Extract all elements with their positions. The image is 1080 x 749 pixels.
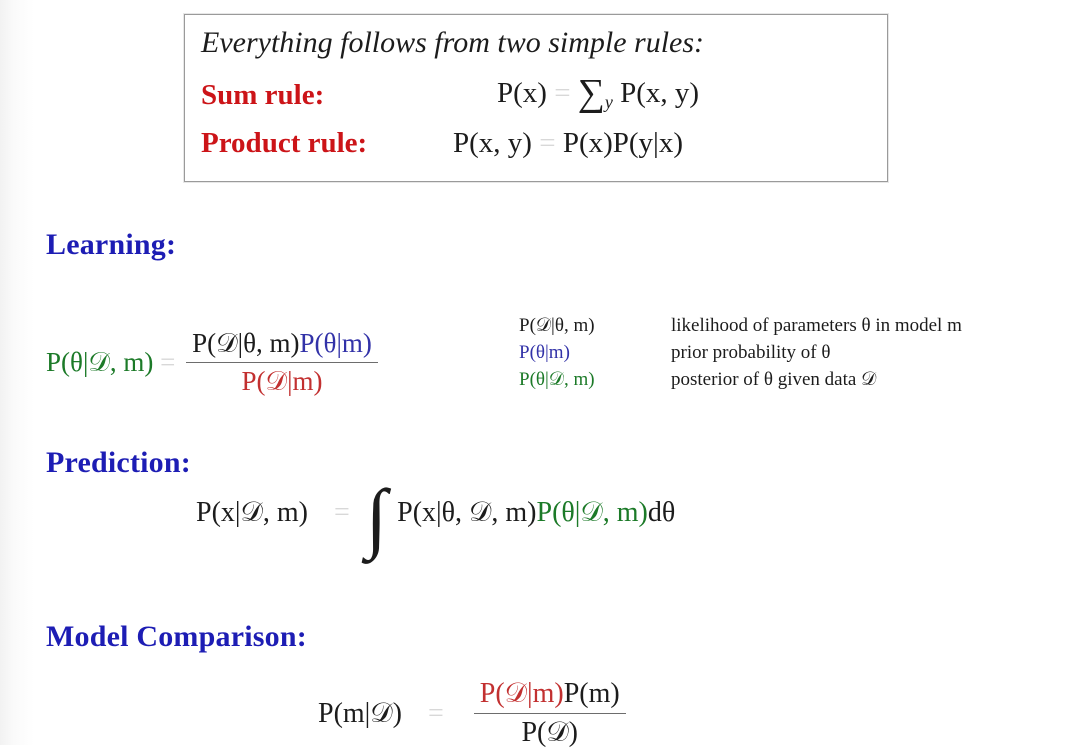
model-fraction: P(𝒟|m)P(m) P(𝒟) xyxy=(474,678,626,749)
prediction-lhs: P(x|𝒟, m) xyxy=(196,497,308,529)
prediction-posterior: P(θ|𝒟, m) xyxy=(537,497,648,529)
legend-row: P(θ|m) prior probability of θ xyxy=(519,342,962,369)
legend-description-posterior: posterior of θ given data 𝒟 xyxy=(671,369,876,391)
learning-posterior-lhs: P(θ|𝒟, m) xyxy=(46,347,153,377)
product-rule-rhs-first: P(x) xyxy=(563,127,613,159)
learning-likelihood: P(𝒟|θ, m) xyxy=(192,328,299,358)
learning-equation: P(θ|𝒟, m) = P(𝒟|θ, m)P(θ|m) P(𝒟|m) xyxy=(46,330,382,400)
legend-symbol-likelihood: P(𝒟|θ, m) xyxy=(519,315,671,337)
model-equals: = xyxy=(428,698,444,730)
model-numerator: P(𝒟|m)P(m) xyxy=(474,678,626,714)
legend-row: P(𝒟|θ, m) likelihood of parameters θ in … xyxy=(519,315,962,342)
model-denominator: P(𝒟) xyxy=(474,714,626,749)
model-comparison-heading: Model Comparison: xyxy=(46,620,307,654)
product-rule-equals: = xyxy=(539,127,555,159)
prediction-differential: dθ xyxy=(648,497,675,529)
sum-rule-label: Sum rule: xyxy=(201,79,324,112)
learning-heading: Learning: xyxy=(46,228,176,262)
prediction-likelihood: P(x|θ, 𝒟, m) xyxy=(397,497,536,529)
learning-denominator: P(𝒟|m) xyxy=(186,363,378,398)
prediction-equation: P(x|𝒟, m) = ∫ P(x|θ, 𝒟, m)P(θ|𝒟, m)dθ xyxy=(196,497,675,529)
sum-rule-rhs: P(x, y) xyxy=(620,77,699,109)
product-rule-lhs: P(x, y) xyxy=(453,127,532,159)
product-rule-rhs-second: P(y|x) xyxy=(613,127,683,159)
learning-fraction: P(𝒟|θ, m)P(θ|m) P(𝒟|m) xyxy=(186,328,378,398)
learning-legend: P(𝒟|θ, m) likelihood of parameters θ in … xyxy=(519,315,962,396)
sum-rule-lhs: P(x) xyxy=(497,77,547,109)
legend-description-likelihood: likelihood of parameters θ in model m xyxy=(671,315,962,337)
model-evidence: P(𝒟|m) xyxy=(480,678,564,709)
rules-headline: Everything follows from two simple rules… xyxy=(201,26,704,60)
summation-icon: ∑ xyxy=(578,72,605,114)
prediction-heading: Prediction: xyxy=(46,446,191,480)
legend-symbol-prior: P(θ|m) xyxy=(519,342,671,364)
learning-equals: = xyxy=(160,347,175,377)
learning-prior: P(θ|m) xyxy=(300,328,372,358)
sum-rule-formula: P(x) = ∑y P(x, y) xyxy=(497,77,699,113)
learning-numerator: P(𝒟|θ, m)P(θ|m) xyxy=(186,328,378,363)
sum-rule-subscript: y xyxy=(605,92,613,112)
legend-description-prior: prior probability of θ xyxy=(671,342,831,364)
two-rules-box: Everything follows from two simple rules… xyxy=(184,14,888,182)
legend-row: P(θ|𝒟, m) posterior of θ given data 𝒟 xyxy=(519,369,962,396)
product-rule-formula: P(x, y) = P(x)P(y|x) xyxy=(453,127,683,160)
prediction-equals: = xyxy=(334,497,350,529)
model-prior: P(m) xyxy=(564,678,620,709)
model-comparison-equation: P(m|𝒟) = P(𝒟|m)P(m) P(𝒟) xyxy=(318,678,630,749)
model-lhs: P(m|𝒟) xyxy=(318,698,402,730)
sum-rule-equals: = xyxy=(554,77,570,109)
product-rule-label: Product rule: xyxy=(201,127,367,160)
legend-symbol-posterior: P(θ|𝒟, m) xyxy=(519,369,671,391)
